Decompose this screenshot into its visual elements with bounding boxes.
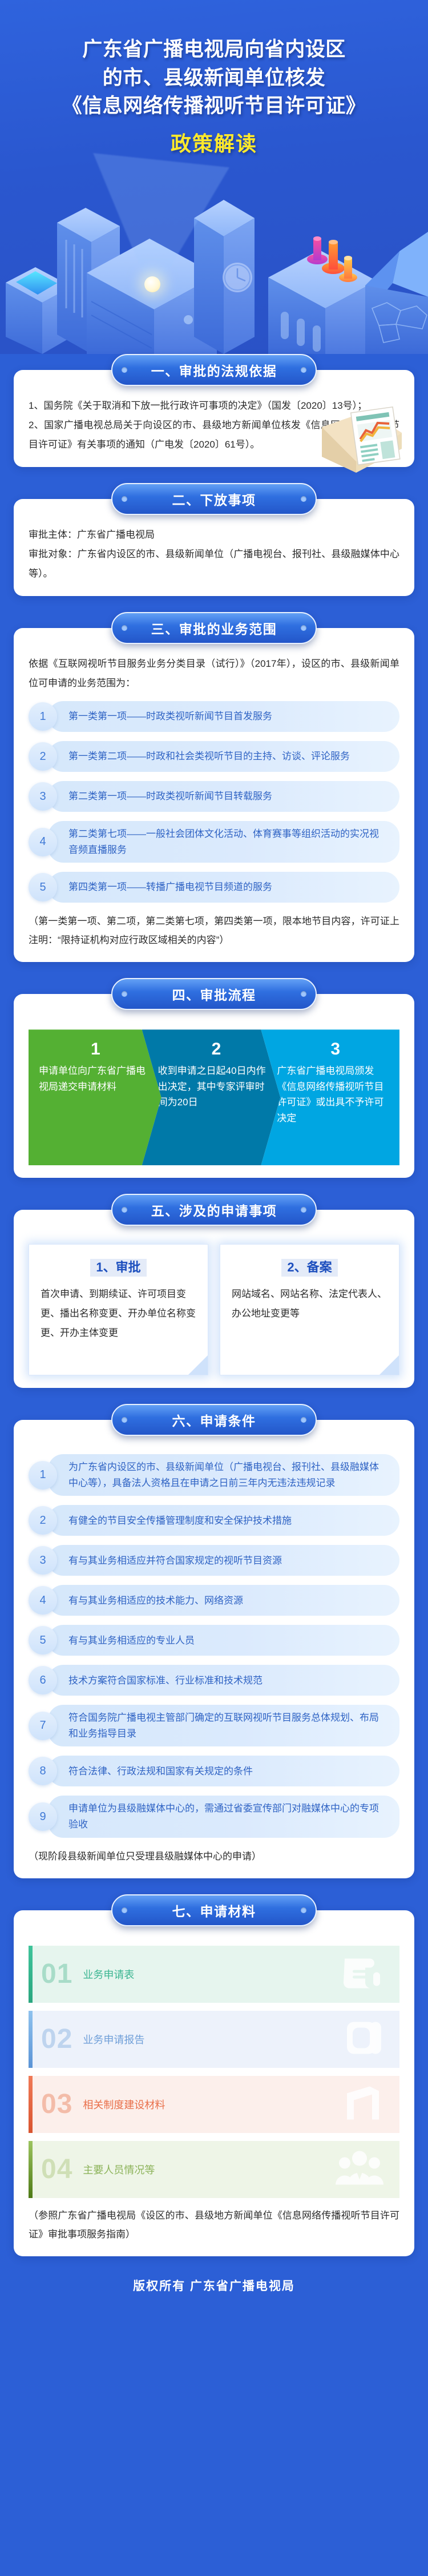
accent-bar (29, 1946, 33, 2003)
header-dot-left-icon (122, 1907, 127, 1913)
section-header-6: 六、申请条件 (111, 1404, 317, 1436)
application-conditions-list: 1 为广东省内设区的市、县级新闻单位（广播电视台、报刊社、县级融媒体中心等），具… (29, 1454, 399, 1837)
material-row-04[interactable]: 04 主要人员情况等 (29, 2141, 399, 2198)
item-number: 5 (29, 873, 57, 901)
section-panel-6: 1 为广东省内设区的市、县级新闻单位（广播电视台、报刊社、县级融媒体中心等），具… (14, 1420, 414, 1878)
item-text: 第二类第七项——一般社会团体文化活动、体育赛事等组织活动的实况视音频直播服务 (48, 821, 399, 863)
card-filing[interactable]: 2、备案 网站域名、网站名称、法定代表人、办公地址变更等 (220, 1244, 399, 1375)
card-text: 首次申请、到期续证、许可项目变更、播出名称变更、开办单位名称变更、开办主体变更 (41, 1285, 196, 1343)
section-heading-text: 七、申请材料 (172, 1901, 256, 1920)
glow-dot-icon (144, 276, 160, 292)
material-number: 04 (41, 2156, 72, 2183)
spacer (0, 596, 428, 612)
item-number: 7 (29, 1712, 57, 1740)
spacer (0, 1388, 428, 1404)
application-conditions-note: （现阶段县级新闻单位只受理县级融媒体中心的申请） (29, 1847, 399, 1866)
item-text: 符合法律、行政法规和国家有关规定的条件 (48, 1756, 399, 1786)
section-heading-text: 五、涉及的申请事项 (151, 1200, 277, 1219)
step-text: 广东省广播电视局颁发《信息网络传播视听节目许可证》或出具不予许可决定 (277, 1063, 390, 1126)
page-subtitle: 政策解读 (0, 127, 428, 157)
material-row-02[interactable]: 02 业务申请报告 (29, 2011, 399, 2068)
header-dot-right-icon (301, 367, 306, 373)
item-text: 申请单位为县级融媒体中心的，需通过省委宣传部门对融媒体中心的专项验收 (48, 1796, 399, 1837)
title-line-1: 广东省广播电视局向省内设区 (0, 35, 428, 64)
step-text: 申请单位向广东省广播电视局递交申请材料 (39, 1063, 152, 1094)
section-panel-4: 1 申请单位向广东省广播电视局递交申请材料 2 收到申请之日起40日内作出决定，… (14, 994, 414, 1178)
approval-subject: 审批主体：广东省广播电视局 (29, 525, 399, 545)
section-panel-5: 1、审批 首次申请、到期续证、许可项目变更、播出名称变更、开办单位名称变更、开办… (14, 1210, 414, 1388)
material-label: 业务申请报告 (83, 2032, 144, 2047)
section-header-5: 五、涉及的申请事项 (111, 1194, 317, 1226)
card-text: 网站域名、网站名称、法定代表人、办公地址变更等 (232, 1285, 387, 1323)
application-matter-cards: 1、审批 首次申请、到期续证、许可项目变更、播出名称变更、开办单位名称变更、开办… (29, 1244, 399, 1375)
header-dot-left-icon (122, 1207, 127, 1213)
flow-step-3: 3 广东省广播电视局颁发《信息网络传播视听节目许可证》或出具不予许可决定 (261, 1029, 399, 1165)
people-group-icon (334, 2150, 385, 2188)
material-label: 业务申请表 (83, 1967, 134, 1982)
item-number: 2 (29, 742, 57, 771)
section-header-3: 三、审批的业务范围 (111, 612, 317, 644)
list-item[interactable]: 5 第四类第一项——转播广播电视节目频道的服务 (29, 872, 399, 903)
hero-banner: 广东省广播电视局向省内设区 的市、县级新闻单位核发 《信息网络传播视听节目许可证… (0, 0, 428, 354)
building-icon (341, 2085, 385, 2123)
item-text: 为广东省内设区的市、县级新闻单位（广播电视台、报刊社、县级融媒体中心等），具备法… (48, 1454, 399, 1496)
step-number: 1 (39, 1040, 152, 1058)
item-text: 技术方案符合国家标准、行业标准和技术规范 (48, 1665, 399, 1696)
list-item[interactable]: 2 第一类第二项——时政和社会类视听节目的主持、访谈、评论服务 (29, 741, 399, 772)
item-text: 符合国务院广播电视主管部门确定的互联网视听节目服务总体规划、布局和业务指导目录 (48, 1705, 399, 1746)
spacer (0, 962, 428, 978)
section-header-1: 一、审批的法规依据 (111, 354, 317, 386)
section-application-matters: 五、涉及的申请事项 1、审批 首次申请、到期续证、许可项目变更、播出名称变更、开… (0, 1194, 428, 1404)
section-heading-text: 二、下放事项 (172, 489, 256, 509)
section-delegated-items: 二、下放事项 审批主体：广东省广播电视局 审批对象：广东省内设区的市、县级新闻单… (0, 483, 428, 612)
card-title-text: 2、备案 (281, 1259, 337, 1277)
step-text: 收到申请之日起40日内作出决定，其中专家评审时间为20日 (158, 1063, 272, 1110)
list-item[interactable]: 2 有健全的节目安全传播管理制度和安全保护技术措施 (29, 1505, 399, 1536)
section-heading-text: 六、申请条件 (172, 1410, 256, 1430)
section-application-materials: 七、申请材料 01 业务申请表 02 (0, 1894, 428, 2256)
material-label: 主要人员情况等 (83, 2162, 155, 2177)
card-title-text: 1、审批 (90, 1259, 146, 1277)
item-number: 1 (29, 1461, 57, 1490)
material-number: 01 (41, 1961, 72, 1988)
item-number: 3 (29, 782, 57, 811)
approval-target: 审批对象：广东省内设区的市、县级新闻单位（广播电视台、报刊社、县级融媒体中心等）… (29, 545, 399, 583)
application-materials-note: （参照广东省广播电视局《设区的市、县级地方新闻单位《信息网络传播视听节目许可证》… (29, 2206, 399, 2244)
flow-step-1: 1 申请单位向广东省广播电视局递交申请材料 (29, 1029, 161, 1165)
section-heading-text: 一、审批的法规依据 (151, 360, 277, 380)
spacer (0, 1178, 428, 1194)
header-dot-left-icon (122, 625, 127, 631)
flow-step-2: 2 收到申请之日起40日内作出决定，其中专家评审时间为20日 (142, 1029, 281, 1165)
item-text: 有与其业务相适应的专业人员 (48, 1625, 399, 1656)
item-number: 4 (29, 828, 57, 856)
section-header-4: 四、审批流程 (111, 978, 317, 1010)
list-item[interactable]: 1 第一类第一项——时政类视听新闻节目首发服务 (29, 701, 399, 732)
item-text: 第二类第一项——时政类视听新闻节目转载服务 (48, 781, 399, 812)
title-line-3: 《信息网络传播视听节目许可证》 (0, 92, 428, 120)
list-item[interactable]: 7 符合国务院广播电视主管部门确定的互联网视听节目服务总体规划、布局和业务指导目… (29, 1705, 399, 1746)
card-approval[interactable]: 1、审批 首次申请、到期续证、许可项目变更、播出名称变更、开办单位名称变更、开办… (29, 1244, 208, 1375)
footer-copyright: 版权所有 广东省广播电视局 (0, 2256, 428, 2326)
accent-bar (29, 2141, 33, 2198)
list-item[interactable]: 3 有与其业务相适应并符合国家规定的视听节目资源 (29, 1545, 399, 1576)
list-item[interactable]: 8 符合法律、行政法规和国家有关规定的条件 (29, 1756, 399, 1786)
header-dot-right-icon (301, 496, 306, 502)
spacer (0, 1878, 428, 1894)
section-header-7: 七、申请材料 (111, 1894, 317, 1926)
item-text: 有与其业务相适应的技术能力、网络资源 (48, 1585, 399, 1616)
item-text: 有健全的节目安全传播管理制度和安全保护技术措施 (48, 1505, 399, 1536)
header-dot-left-icon (122, 496, 127, 502)
header-dot-right-icon (301, 1207, 306, 1213)
section-header-2: 二、下放事项 (111, 483, 317, 515)
section-approval-flow: 四、审批流程 1 申请单位向广东省广播电视局递交申请材料 2 收到申请之日起40… (0, 978, 428, 1194)
material-number: 02 (41, 2026, 72, 2053)
business-scope-list: 1 第一类第一项——时政类视听新闻节目首发服务 2 第一类第二项——时政和社会类… (29, 701, 399, 903)
application-materials-list: 01 业务申请表 02 业务申请报告 (29, 1946, 399, 2198)
item-text: 有与其业务相适应并符合国家规定的视听节目资源 (48, 1545, 399, 1576)
business-scope-note: （第一类第一项、第二项，第二类第七项，第四类第一项，限本地节目内容，许可证上注明… (29, 912, 399, 949)
section-panel-3: 依据《互联网视听节目服务业务分类目录（试行）》（2017年），设区的市、县级新闻… (14, 628, 414, 962)
material-row-03[interactable]: 03 相关制度建设材料 (29, 2076, 399, 2133)
scroll-document-icon (340, 1955, 385, 1993)
header-dot-right-icon (301, 1907, 306, 1913)
section-application-conditions: 六、申请条件 1 为广东省内设区的市、县级新闻单位（广播电视台、报刊社、县级融媒… (0, 1404, 428, 1894)
header-dot-right-icon (301, 991, 306, 997)
section-panel-7: 01 业务申请表 02 业务申请报告 (14, 1910, 414, 2256)
section-legal-basis: 一、审批的法规依据 (0, 354, 428, 483)
header-dot-right-icon (301, 1417, 306, 1423)
approval-flow-diagram: 1 申请单位向广东省广播电视局递交申请材料 2 收到申请之日起40日内作出决定，… (29, 1029, 399, 1165)
envelope-document-icon (318, 400, 404, 474)
material-label: 相关制度建设材料 (83, 2097, 165, 2112)
header-dot-right-icon (301, 625, 306, 631)
header-dot-left-icon (122, 991, 127, 997)
section-heading-text: 三、审批的业务范围 (151, 618, 277, 638)
section-business-scope: 三、审批的业务范围 依据《互联网视听节目服务业务分类目录（试行）》（2017年）… (0, 612, 428, 978)
accent-bar (29, 2076, 33, 2133)
list-item[interactable]: 5 有与其业务相适应的专业人员 (29, 1625, 399, 1656)
section-heading-text: 四、审批流程 (172, 984, 256, 1004)
header-dot-left-icon (122, 367, 127, 373)
item-text: 第四类第一项——转播广播电视节目频道的服务 (48, 872, 399, 903)
list-item[interactable]: 4 有与其业务相适应的技术能力、网络资源 (29, 1585, 399, 1616)
list-item[interactable]: 4 第二类第七项——一般社会团体文化活动、体育赛事等组织活动的实况视音频直播服务 (29, 821, 399, 863)
page-title: 广东省广播电视局向省内设区 的市、县级新闻单位核发 《信息网络传播视听节目许可证… (0, 0, 428, 120)
card-title: 2、备案 (232, 1257, 387, 1275)
step-number: 2 (158, 1040, 272, 1058)
material-row-01[interactable]: 01 业务申请表 (29, 1946, 399, 2003)
item-text: 第一类第一项——时政类视听新闻节目首发服务 (48, 701, 399, 732)
business-scope-intro: 依据《互联网视听节目服务业务分类目录（试行）》（2017年），设区的市、县级新闻… (29, 654, 399, 693)
list-item[interactable]: 1 为广东省内设区的市、县级新闻单位（广播电视台、报刊社、县级融媒体中心等），具… (29, 1454, 399, 1496)
list-item[interactable]: 3 第二类第一项——时政类视听新闻节目转载服务 (29, 781, 399, 812)
list-item[interactable]: 9 申请单位为县级融媒体中心的，需通过省委宣传部门对融媒体中心的专项验收 (29, 1796, 399, 1837)
item-text: 第一类第二项——时政和社会类视听节目的主持、访谈、评论服务 (48, 741, 399, 772)
item-number: 9 (29, 1802, 57, 1831)
title-line-2: 的市、县级新闻单位核发 (0, 64, 428, 92)
card-title: 1、审批 (41, 1257, 196, 1275)
accent-bar (29, 2011, 33, 2068)
list-item[interactable]: 6 技术方案符合国家标准、行业标准和技术规范 (29, 1665, 399, 1696)
item-number: 1 (29, 702, 57, 731)
header-dot-left-icon (122, 1417, 127, 1423)
report-book-icon (344, 2019, 385, 2059)
step-number: 3 (277, 1040, 390, 1058)
material-number: 03 (41, 2091, 72, 2118)
